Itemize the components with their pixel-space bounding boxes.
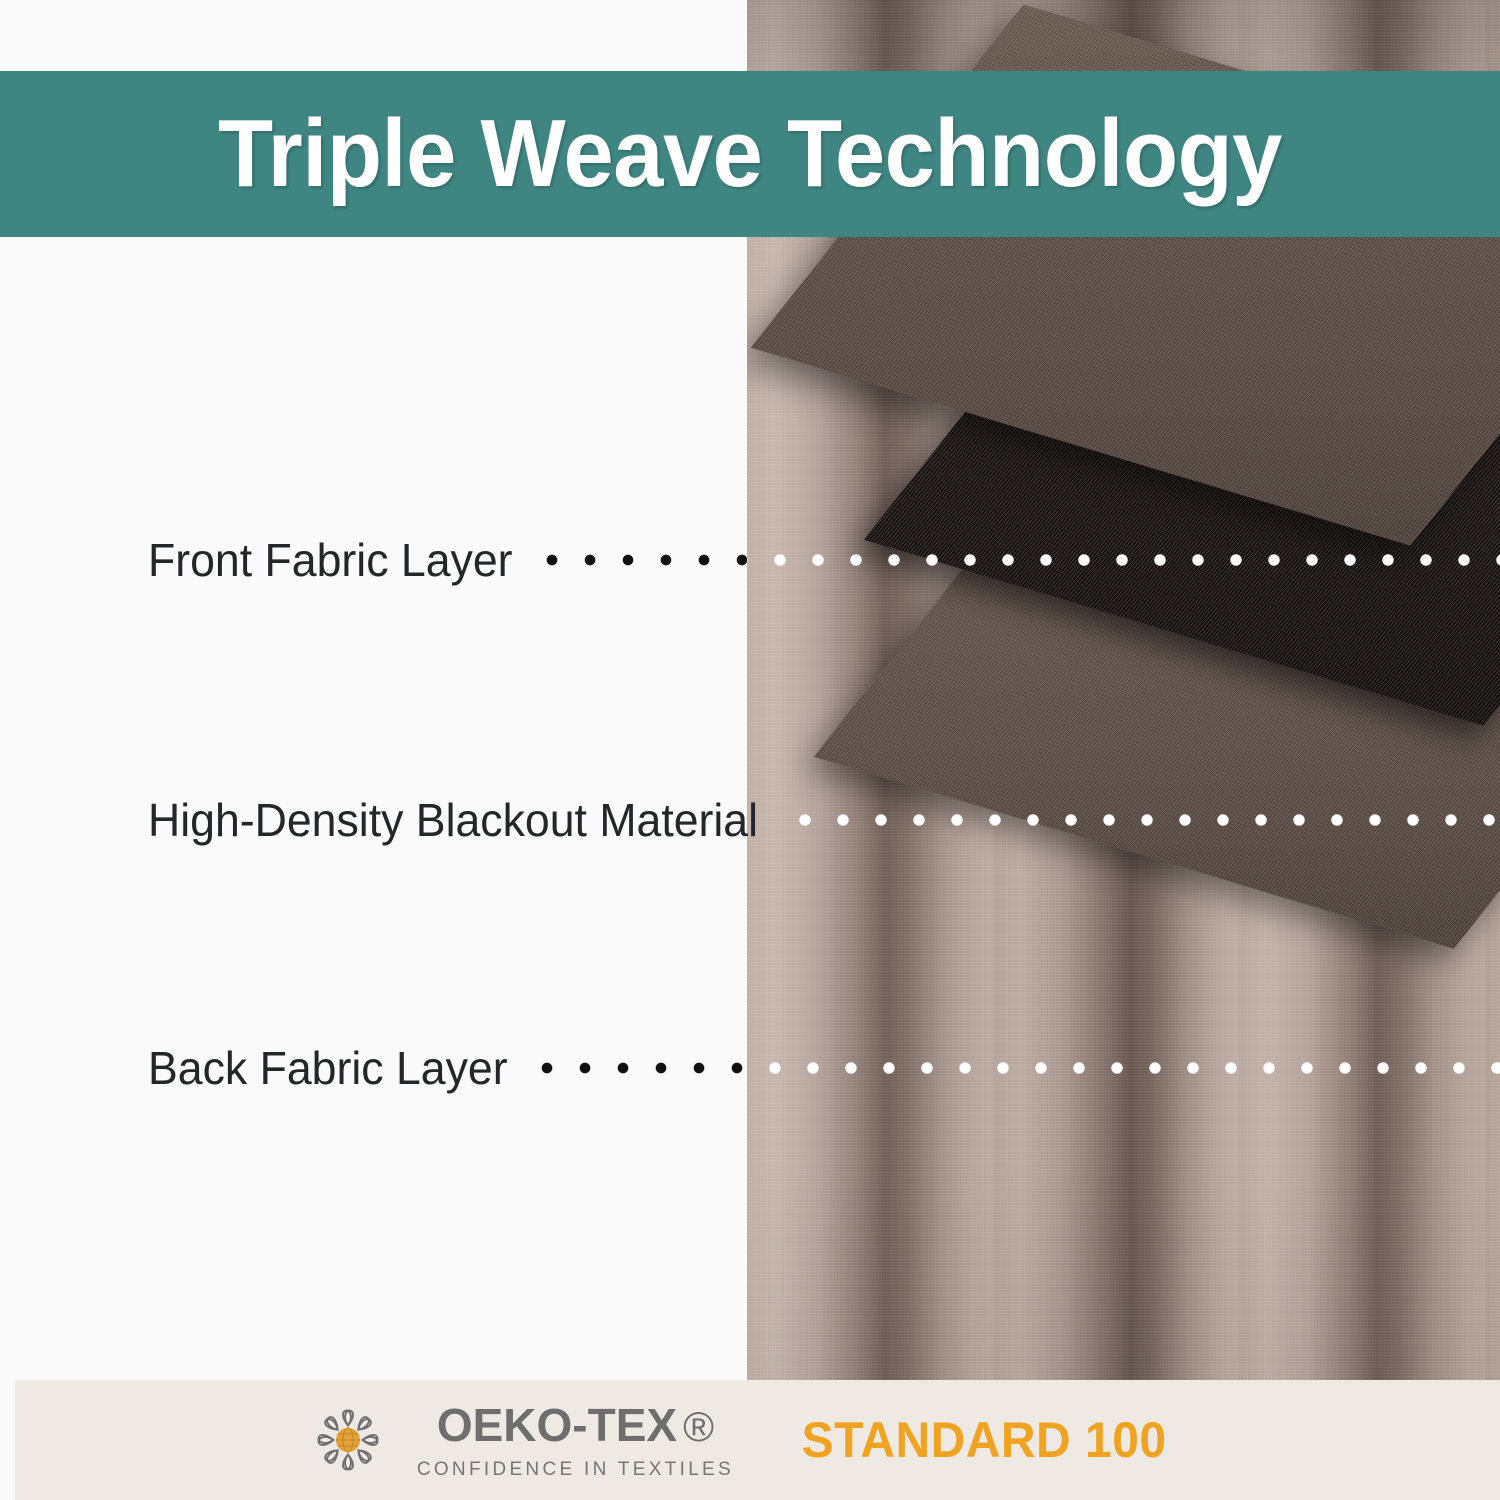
callout-label-front: Front Fabric Layer <box>148 536 513 584</box>
page-title: Triple Weave Technology <box>218 106 1282 202</box>
callout-front-fabric-layer: Front Fabric Layer <box>148 530 1500 590</box>
callout-back-fabric-layer: Back Fabric Layer <box>148 1038 1500 1098</box>
certification-content: OEKO-TEX® CONFIDENCE IN TEXTILES STANDAR… <box>305 1397 1174 1483</box>
oeko-tex-wordmark: OEKO-TEX® CONFIDENCE IN TEXTILES <box>417 1402 734 1479</box>
oeko-tex-flower-globe-icon <box>305 1397 391 1483</box>
leader-clip-front <box>747 552 1500 568</box>
leader-clip-blackout <box>799 812 1500 828</box>
leader-line-back <box>541 1060 1500 1076</box>
cert-standard-label: STANDARD 100 <box>802 1415 1167 1465</box>
leader-dots-light-front <box>747 552 1500 568</box>
cert-brand-text: OEKO-TEX <box>437 1399 677 1451</box>
certification-footer: OEKO-TEX® CONFIDENCE IN TEXTILES STANDAR… <box>15 1380 1500 1500</box>
triple-weave-infographic: Triple Weave Technology Front Fabric Lay… <box>0 0 1500 1500</box>
callout-label-back: Back Fabric Layer <box>148 1044 508 1092</box>
leader-line-blackout <box>799 812 1500 828</box>
callout-label-blackout: High-Density Blackout Material <box>148 796 758 844</box>
header-banner: Triple Weave Technology <box>0 71 1500 237</box>
leader-dots-light-back <box>747 1060 1500 1076</box>
cert-brand-name: OEKO-TEX® <box>437 1402 714 1448</box>
leader-dots-light-blackout <box>799 812 1500 828</box>
leader-clip-back <box>747 1060 1500 1076</box>
leader-line-front <box>546 552 1500 568</box>
callout-blackout-material: High-Density Blackout Material <box>148 790 1500 850</box>
registered-mark-icon: ® <box>683 1403 714 1450</box>
cert-tagline: CONFIDENCE IN TEXTILES <box>417 1460 734 1479</box>
